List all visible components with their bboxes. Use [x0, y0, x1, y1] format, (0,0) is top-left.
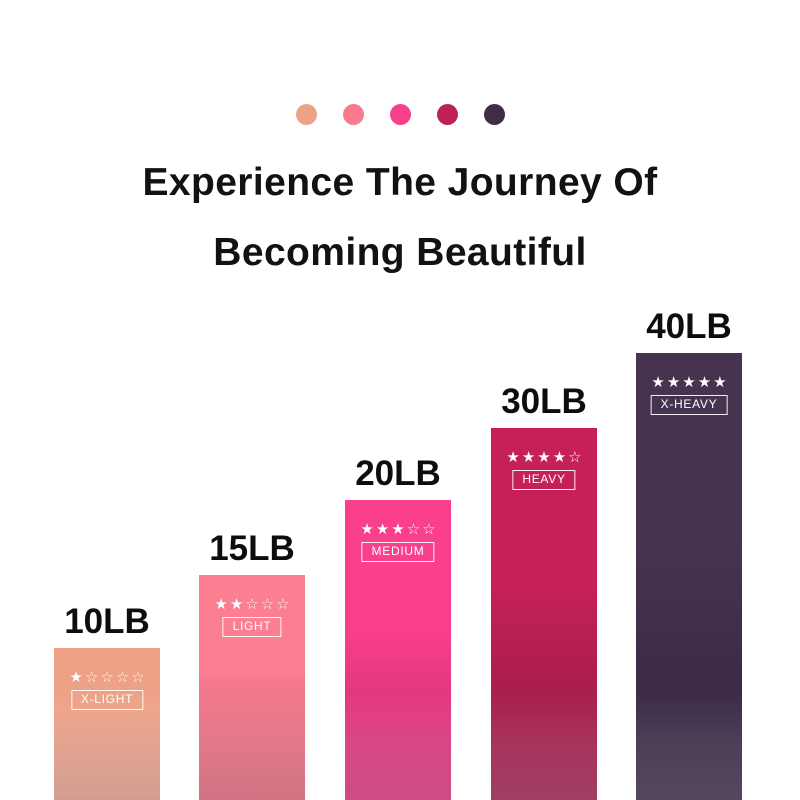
bar-30lb-group: 30LB★★★★☆HEAVY — [491, 428, 597, 800]
bar-15lb[interactable] — [199, 575, 305, 800]
bar-10lb-weight-label: 10LB — [64, 604, 150, 639]
resistance-bar-chart: 10LB★☆☆☆☆X-LIGHT15LB★★☆☆☆LIGHT20LB★★★☆☆M… — [0, 0, 800, 800]
bar-40lb[interactable] — [636, 353, 742, 800]
bar-10lb[interactable] — [54, 648, 160, 800]
bar-20lb[interactable] — [345, 500, 451, 800]
bar-15lb-weight-label: 15LB — [209, 531, 295, 566]
infographic-canvas: Experience The Journey Of Becoming Beaut… — [0, 0, 800, 800]
bar-15lb-group: 15LB★★☆☆☆LIGHT — [199, 575, 305, 800]
bar-30lb[interactable] — [491, 428, 597, 800]
bar-20lb-group: 20LB★★★☆☆MEDIUM — [345, 500, 451, 800]
bar-20lb-weight-label: 20LB — [355, 456, 441, 491]
bar-30lb-weight-label: 30LB — [501, 384, 587, 419]
bar-10lb-group: 10LB★☆☆☆☆X-LIGHT — [54, 648, 160, 800]
bar-40lb-group: 40LB★★★★★X-HEAVY — [636, 353, 742, 800]
bar-40lb-weight-label: 40LB — [646, 309, 732, 344]
